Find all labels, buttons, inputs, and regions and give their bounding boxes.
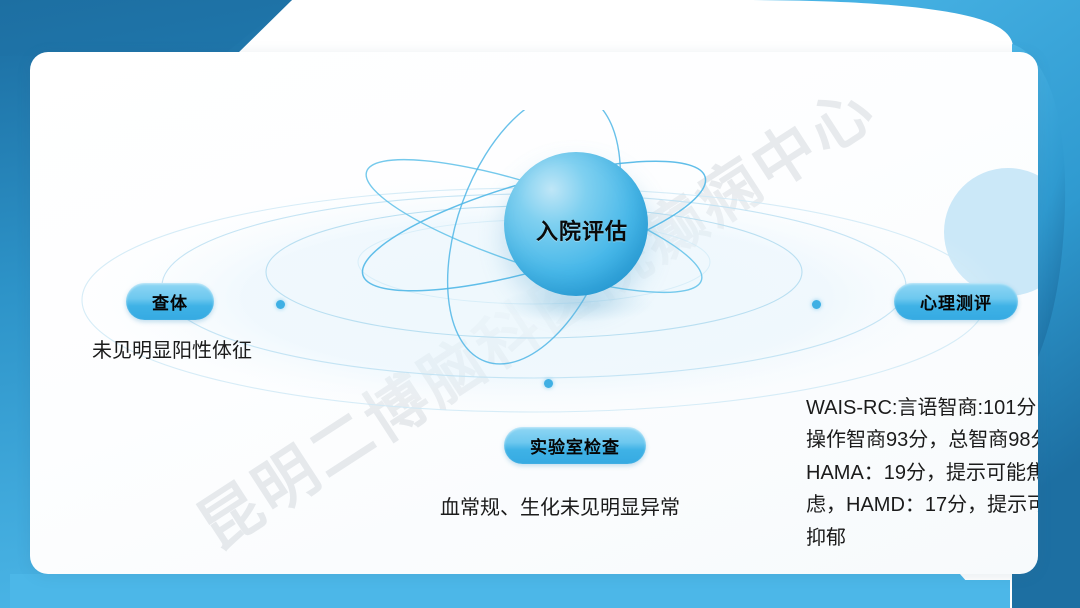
text-psych: WAIS-RC:言语智商:101分，操作智商93分，总智商98分；HAMA：19… — [806, 392, 1038, 554]
bottom-accent-bar — [10, 574, 990, 608]
pill-checkup[interactable]: 查体 — [126, 283, 214, 320]
center-sphere-label: 入院评估 — [536, 214, 628, 246]
text-lab: 血常规、生化未见明显异常 — [440, 492, 680, 524]
orbit-diagram: 入院评估 — [30, 110, 1038, 440]
text-checkup: 未见明显阳性体征 — [92, 335, 252, 367]
content-card: 昆明二博脑科医院癫痫中心 — [30, 52, 1038, 574]
orbit-node-right — [812, 300, 821, 309]
orbit-node-left — [276, 300, 285, 309]
sphere-shadow — [498, 288, 654, 322]
pill-psych[interactable]: 心理测评 — [894, 283, 1018, 320]
orbit-rings — [30, 110, 1038, 440]
center-sphere: 入院评估 — [504, 152, 648, 296]
pill-lab[interactable]: 实验室检查 — [504, 427, 646, 464]
orbit-node-bottom — [544, 379, 553, 388]
decorative-circle — [944, 168, 1038, 296]
watermark-text: 昆明二博脑科医院癫痫中心 — [177, 60, 890, 567]
top-left-wedge — [0, 0, 292, 56]
slide-root: 昆明二博脑科医院癫痫中心 — [0, 0, 1080, 608]
